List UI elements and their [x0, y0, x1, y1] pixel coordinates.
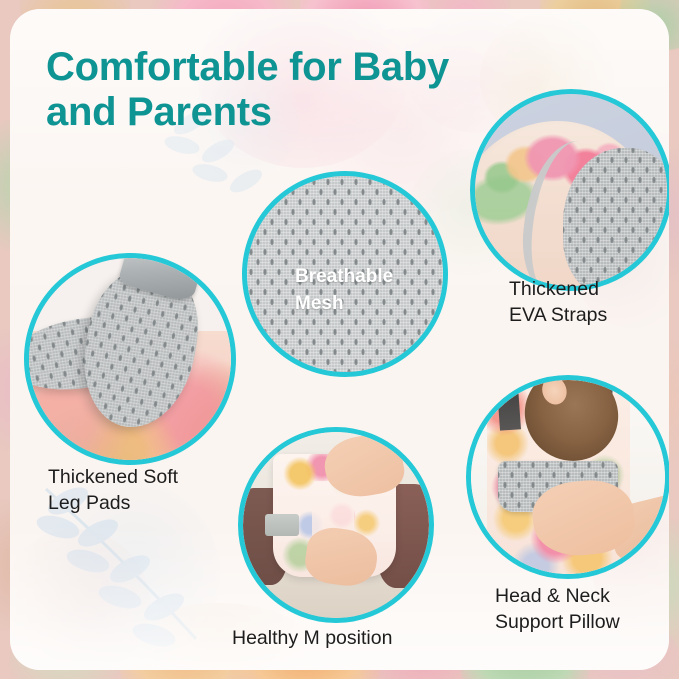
feature-image-breathable-mesh: Breathable Mesh: [242, 171, 448, 377]
leg-pads-photo: [29, 258, 231, 460]
feature-image-thickened-soft-leg-pads: [24, 253, 236, 465]
caption-thickened-soft-leg-pads: Thickened Soft Leg Pads: [48, 465, 178, 516]
breathable-mesh-overlay-label: Breathable Mesh: [295, 264, 393, 318]
feature-image-head-neck-support-pillow: [466, 375, 669, 579]
head-neck-pillow-photo: [471, 380, 665, 574]
caption-thickened-eva-straps: Thickened EVA Straps: [509, 277, 607, 328]
caption-healthy-m-position: Healthy M position: [232, 626, 392, 652]
carrier-waist-buckle: [265, 514, 298, 536]
content-card: Comfortable for Baby and Parents: [10, 9, 669, 670]
feature-image-healthy-m-position: [238, 427, 434, 623]
carrier-strap-left: [496, 380, 521, 431]
page-title: Comfortable for Baby and Parents: [46, 45, 516, 135]
product-feature-graphic: Comfortable for Baby and Parents: [0, 0, 679, 679]
healthy-m-position-photo: [243, 432, 429, 618]
baby-face: [540, 380, 572, 408]
caption-head-neck-support-pillow: Head & Neck Support Pillow: [495, 584, 620, 635]
